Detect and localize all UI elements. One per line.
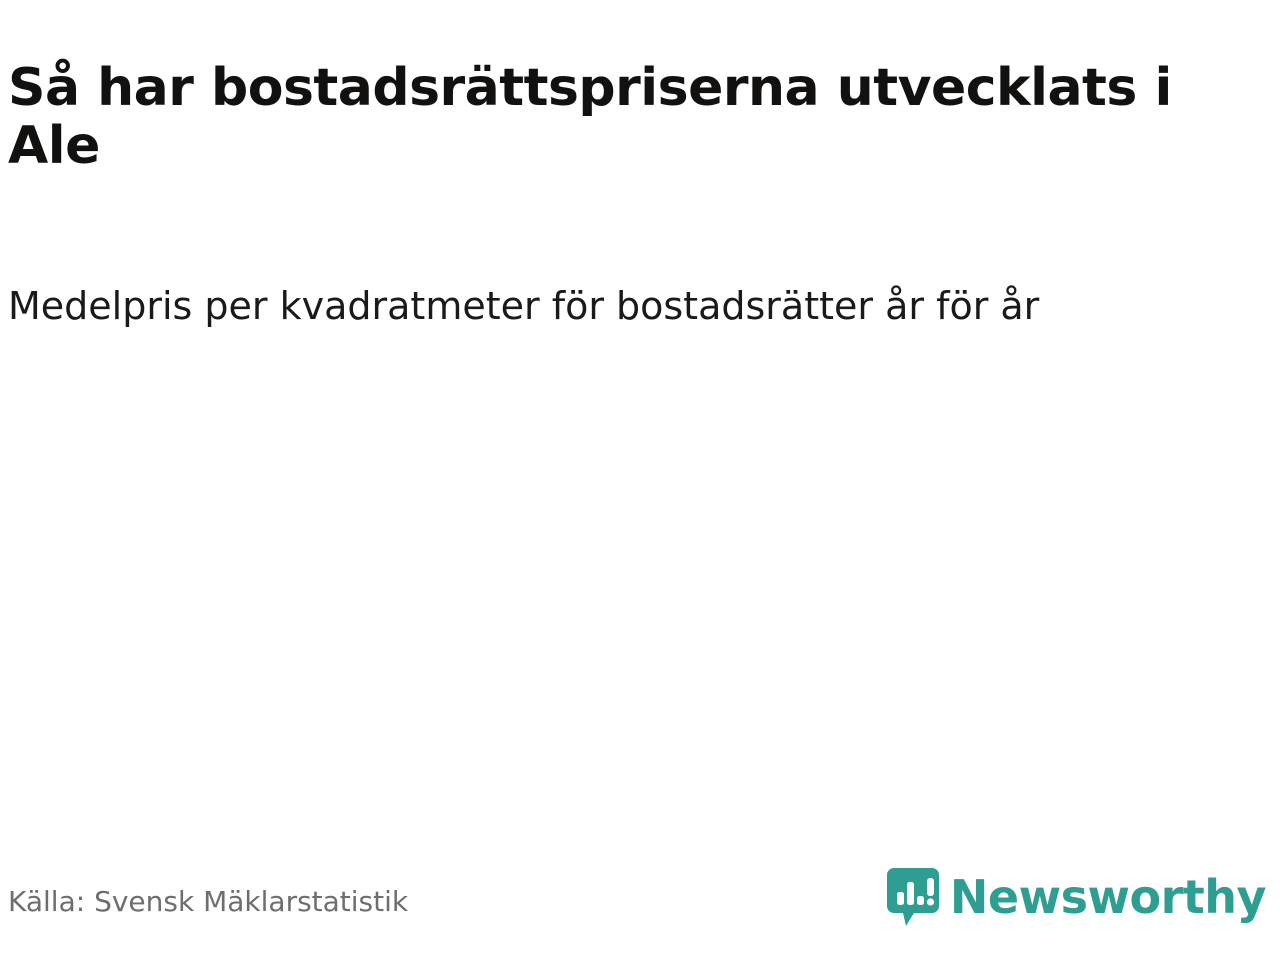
- page-title: Så har bostadsrättspriserna utvecklats i…: [8, 59, 1258, 175]
- brand-logo: Newsworthy: [886, 866, 1266, 928]
- source-note: Källa: Svensk Mäklarstatistik: [8, 885, 408, 918]
- brand-name: Newsworthy: [950, 874, 1266, 920]
- page-subtitle: Medelpris per kvadratmeter för bostadsrä…: [8, 285, 1258, 329]
- chart-canvas: 20 00030 00040 000 201520172019202120232…: [0, 400, 1280, 760]
- chart-page: Så har bostadsrättspriserna utvecklats i…: [0, 0, 1280, 960]
- line-chart: 20 00030 00040 000 201520172019202120232…: [0, 400, 1280, 760]
- newsworthy-bubble-bars-icon: [886, 866, 940, 928]
